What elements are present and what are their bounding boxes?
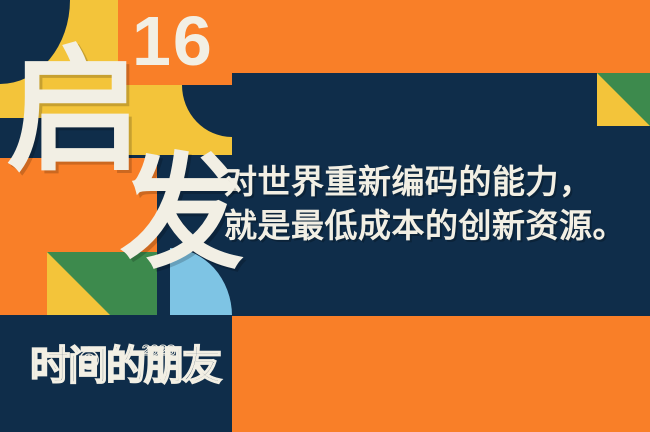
- shape-orange-bottom-block: [232, 316, 650, 432]
- brand-logo: 时间的朋友 2023: [30, 340, 220, 400]
- shape-diagonal-square-left-b: [47, 252, 117, 322]
- brand-logo-text: 时间的朋友: [30, 346, 220, 386]
- clock-icon: [76, 346, 102, 372]
- shape-orange-left-fill: [0, 252, 47, 315]
- quote-line-2: 就是最低成本的创新资源。: [224, 204, 638, 248]
- shape-orange-top-band: [232, 0, 650, 73]
- poster-canvas: 16 启 发 对世界重新编码的能力， 就是最低成本的创新资源。 时间的朋友 20…: [0, 0, 650, 432]
- series-number: 16: [132, 6, 214, 76]
- shape-diagonal-square-top-right: [597, 73, 650, 126]
- quote-text: 对世界重新编码的能力， 就是最低成本的创新资源。: [224, 160, 638, 247]
- quote-line-1: 对世界重新编码的能力，: [224, 160, 638, 204]
- brand-logo-year: 2023: [142, 342, 175, 359]
